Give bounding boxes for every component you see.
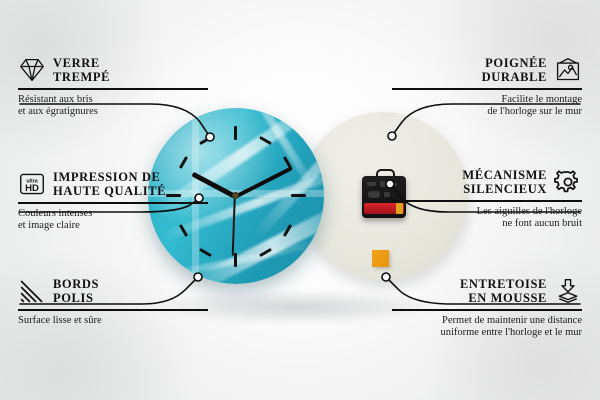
svg-text:HD: HD xyxy=(25,183,39,194)
clock-second-hand xyxy=(232,196,236,256)
clock-tick xyxy=(179,156,188,169)
clock-tick xyxy=(199,136,212,145)
clock-tick xyxy=(234,253,237,267)
feature-description: Résistant aux briset aux égratignures xyxy=(18,94,208,119)
divider xyxy=(18,309,208,311)
picture-frame-hanger-icon xyxy=(554,57,582,83)
divider xyxy=(392,200,582,202)
feature-callout-entretoise-en-mousse[interactable]: ENTRETOISEEN MOUSSE Permet de maintenir … xyxy=(392,277,582,340)
infographic-canvas: VERRETREMPÉ Résistant aux briset aux égr… xyxy=(0,0,600,400)
divider xyxy=(18,202,208,204)
feature-title: IMPRESSION DEHAUTE QUALITÉ xyxy=(53,170,166,198)
feature-callout-bords-polis[interactable]: BORDSPOLIS Surface lisse et sûre xyxy=(18,277,208,327)
feature-description: Permet de maintenir une distanceuniforme… xyxy=(392,315,582,340)
feature-callout-mecanisme-silencieux[interactable]: MÉCANISMESILENCIEUX Les aiguilles de l'h… xyxy=(392,168,582,231)
divider xyxy=(18,88,208,90)
divider xyxy=(392,88,582,90)
feature-description: Couleurs intenseset image claire xyxy=(18,208,208,233)
feature-callout-impression-haute-qualite[interactable]: ultra HD IMPRESSION DEHAUTE QUALITÉ Coul… xyxy=(18,170,208,233)
feature-description: Surface lisse et sûre xyxy=(18,315,208,327)
foam-spacer-arrow-icon xyxy=(554,278,582,304)
feature-callout-verre-trempe[interactable]: VERRETREMPÉ Résistant aux briset aux égr… xyxy=(18,56,208,119)
diamond-icon xyxy=(18,57,46,83)
foam-spacer-pad xyxy=(372,250,389,267)
divider xyxy=(392,309,582,311)
ultra-hd-badge-icon: ultra HD xyxy=(18,171,46,197)
clock-tick xyxy=(199,248,212,257)
diagonal-lines-icon xyxy=(18,278,46,304)
feature-callout-poignee-durable[interactable]: POIGNÉEDURABLE Facilite le montagede l'h… xyxy=(392,56,582,119)
clock-tick xyxy=(291,194,306,197)
feature-description: Facilite le montagede l'horloge sur le m… xyxy=(392,94,582,119)
gear-icon xyxy=(554,169,582,195)
feature-title: VERRETREMPÉ xyxy=(53,56,110,84)
feature-title: MÉCANISMESILENCIEUX xyxy=(462,168,547,196)
feature-title: ENTRETOISEEN MOUSSE xyxy=(460,277,547,305)
clock-tick xyxy=(234,126,237,140)
feature-title: BORDSPOLIS xyxy=(53,277,99,305)
feature-title: POIGNÉEDURABLE xyxy=(482,56,547,84)
feature-description: Les aiguilles de l'horlogene font aucun … xyxy=(392,206,582,231)
clock-hand-hub xyxy=(232,192,239,199)
